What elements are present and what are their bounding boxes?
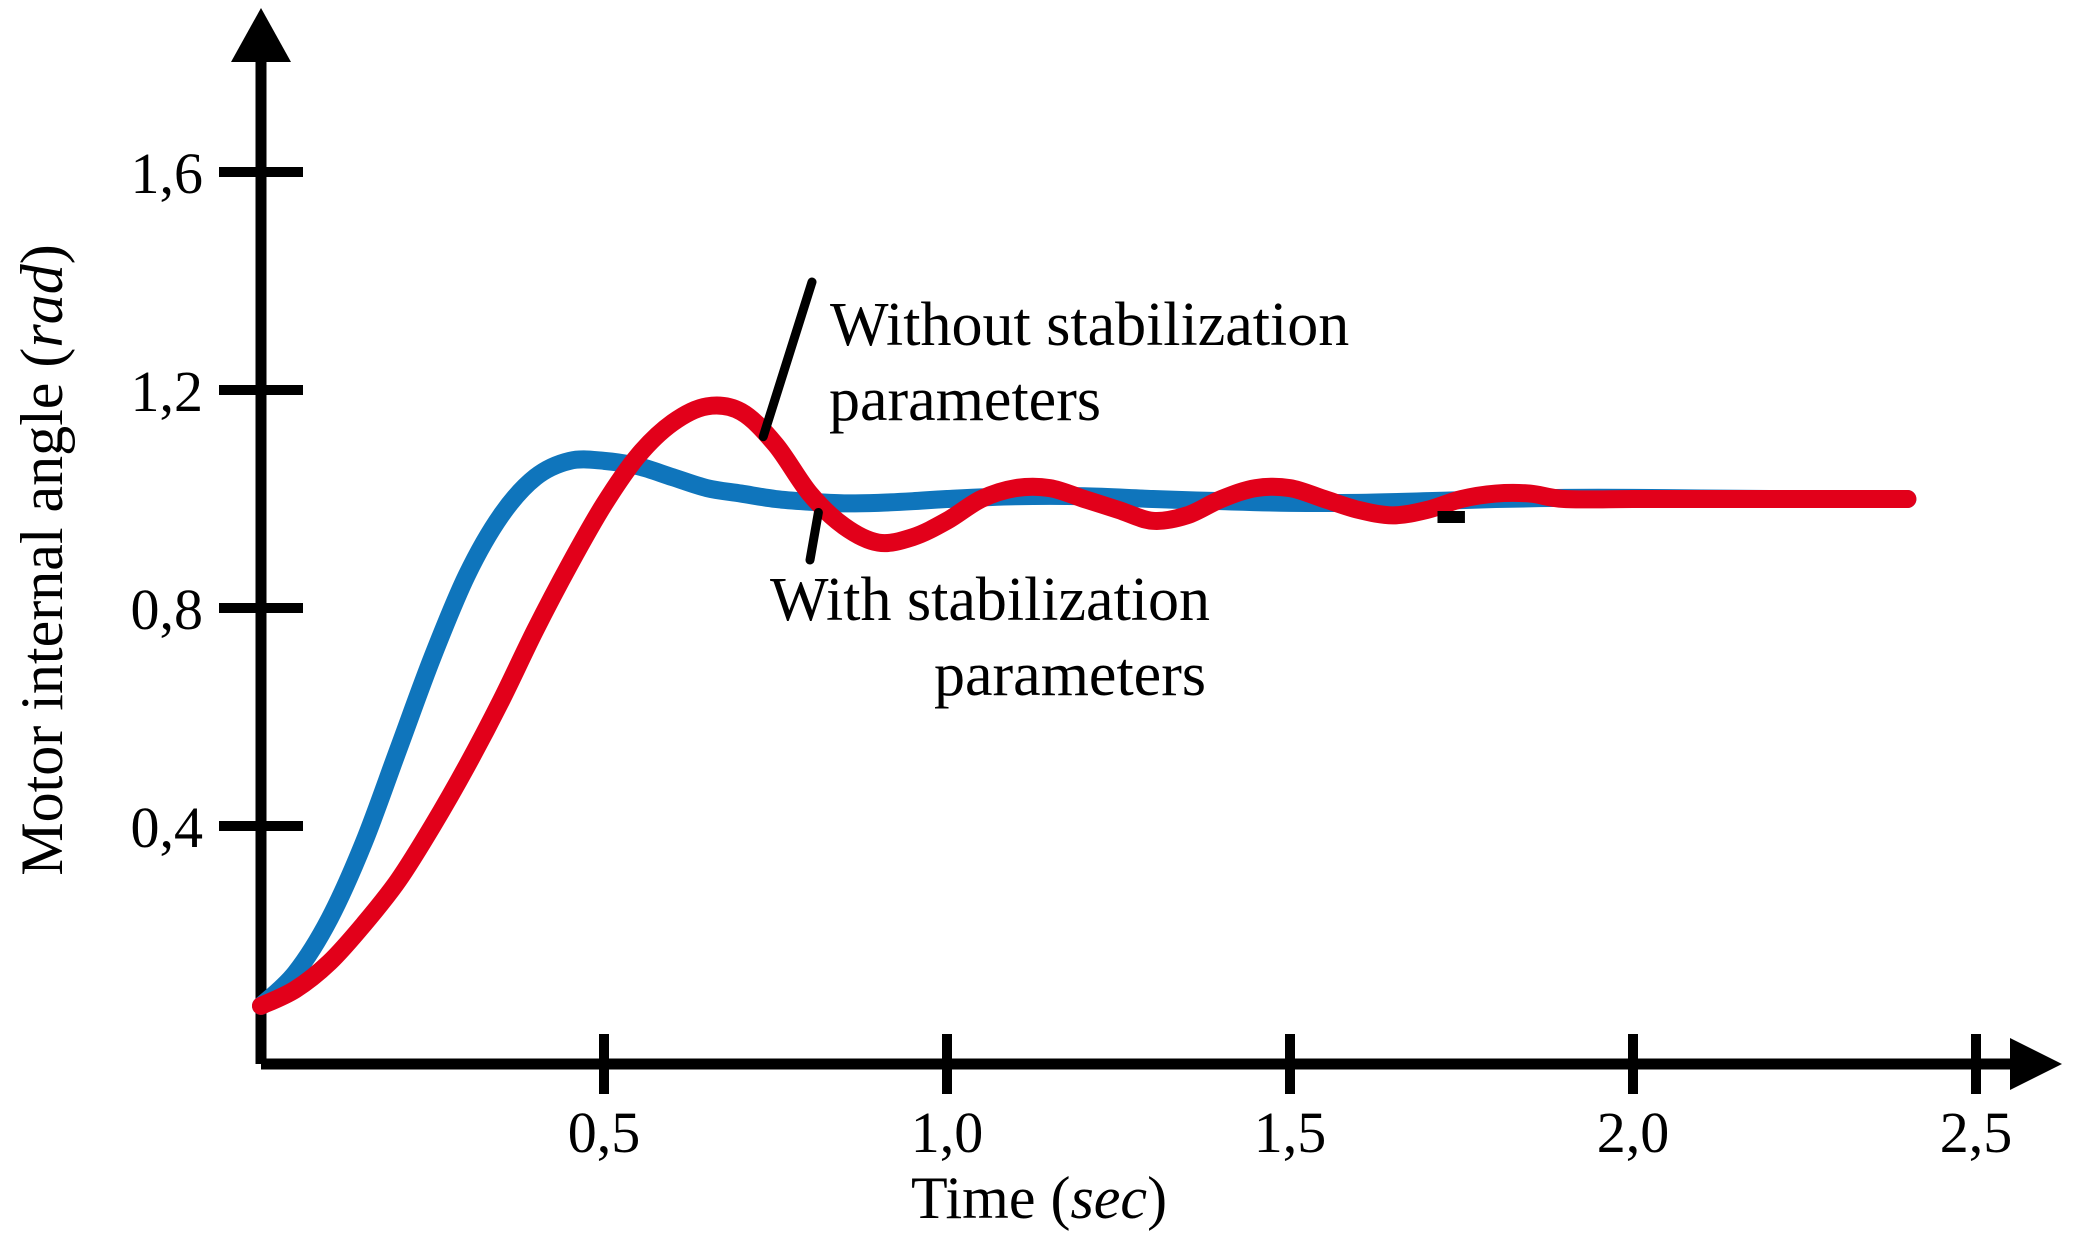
annotation-without-stabilization: Without stabilization parameters (829, 291, 1349, 434)
leader-line-without (763, 282, 812, 437)
x-tick-label: 1,5 (1254, 1100, 1327, 1165)
y-axis-title-close: ) (9, 244, 75, 264)
axes-group (231, 8, 2062, 1090)
x-tick-labels: 0,51,01,52,02,5 (568, 1100, 2013, 1165)
line-chart: 0,40,81,21,6 0,51,01,52,02,5 Time (sec) … (0, 0, 2078, 1251)
y-tick-label: 1,6 (131, 141, 204, 206)
x-axis-title-main: Time ( (911, 1165, 1071, 1231)
y-tick-labels: 0,40,81,21,6 (131, 141, 204, 860)
y-tick-label: 0,8 (131, 577, 204, 642)
annotation-without-line2: parameters (829, 366, 1101, 434)
x-tick-label: 0,5 (568, 1100, 641, 1165)
annotation-with-stabilization: With stabilization parameters (770, 566, 1210, 709)
series-line (261, 459, 1907, 1005)
x-axis-title-unit: sec (1070, 1165, 1147, 1231)
y-tick-label: 1,2 (131, 359, 204, 424)
y-axis-title-main: Motor internal angle ( (9, 348, 75, 876)
annotation-with-line2: parameters (934, 641, 1206, 709)
annotation-without-line1: Without stabilization (830, 291, 1349, 359)
x-tick-label: 2,5 (1940, 1100, 2013, 1165)
y-axis-title: Motor internal angle (rad) (9, 244, 75, 876)
leader-line-with (810, 512, 818, 560)
annotation-with-line1: With stabilization (770, 566, 1210, 634)
x-axis-title-close: ) (1147, 1165, 1167, 1231)
x-tick-label: 1,0 (911, 1100, 984, 1165)
chart-canvas: 0,40,81,21,6 0,51,01,52,02,5 Time (sec) … (0, 0, 2078, 1251)
x-axis-title: Time (sec) (911, 1165, 1167, 1231)
x-tick-label: 2,0 (1597, 1100, 1670, 1165)
y-tick-label: 0,4 (131, 795, 204, 860)
y-axis-title-unit: rad (9, 263, 75, 347)
